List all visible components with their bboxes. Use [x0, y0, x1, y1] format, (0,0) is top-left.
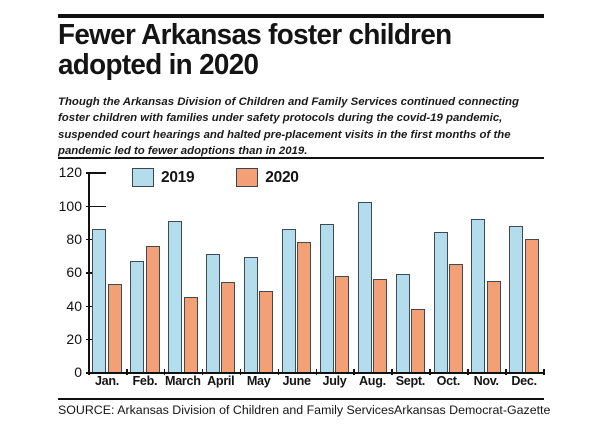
bar-group-july — [316, 172, 354, 372]
x-axis-label-oct: Oct. — [429, 374, 467, 388]
x-axis-label-march: March — [164, 374, 202, 388]
bar-group-dec — [505, 172, 543, 372]
y-tick-label-80: 80 — [66, 231, 82, 247]
bar-2019-sept — [396, 274, 410, 372]
y-tick-label-60: 60 — [66, 264, 82, 280]
bar-2020-jan — [108, 284, 122, 372]
bar-2019-may — [244, 257, 258, 372]
footer: SOURCE: Arkansas Division of Children an… — [58, 403, 548, 417]
subtitle-deck: Though the Arkansas Division of Children… — [58, 94, 546, 159]
x-axis-label-june: June — [278, 374, 316, 388]
bar-group-april — [202, 172, 240, 372]
x-axis-label-aug: Aug. — [353, 374, 391, 388]
bar-2020-april — [221, 282, 235, 372]
x-axis-label-july: July — [316, 374, 354, 388]
y-tick-label-100: 100 — [59, 198, 82, 214]
plot-area: 020406080100120 — [88, 172, 543, 374]
bar-2020-july — [335, 276, 349, 373]
bar-group-aug — [353, 172, 391, 372]
bar-2019-dec — [509, 226, 523, 373]
bar-2020-may — [259, 291, 273, 373]
bar-2019-jan — [92, 229, 106, 372]
bar-2020-feb — [146, 246, 160, 373]
y-tick-label-40: 40 — [66, 298, 82, 314]
x-axis-label-dec: Dec. — [505, 374, 543, 388]
bar-2020-aug — [373, 279, 387, 372]
bar-group-oct — [429, 172, 467, 372]
y-tick-label-120: 120 — [59, 164, 82, 180]
bar-group-march — [164, 172, 202, 372]
x-axis-label-nov: Nov. — [467, 374, 505, 388]
bar-groups — [88, 172, 543, 372]
bar-2020-dec — [525, 239, 539, 372]
bar-2019-nov — [471, 219, 485, 372]
infographic-panel: Fewer Arkansas foster children adopted i… — [0, 0, 600, 428]
bar-2020-sept — [411, 309, 425, 372]
top-divider-rule — [58, 14, 544, 18]
x-axis-label-jan: Jan. — [88, 374, 126, 388]
publication-credit: Arkansas Democrat-Gazette — [394, 403, 550, 417]
bar-2019-march — [168, 221, 182, 373]
bar-2019-april — [206, 254, 220, 372]
source-note: SOURCE: Arkansas Division of Children an… — [58, 403, 394, 417]
x-axis-label-may: May — [240, 374, 278, 388]
footer-divider-rule — [58, 398, 544, 400]
y-tick-label-0: 0 — [74, 364, 82, 380]
deck-divider-rule — [58, 157, 544, 159]
x-axis-labels: Jan.Feb.MarchAprilMayJuneJulyAug.Sept.Oc… — [88, 374, 543, 388]
bar-2019-aug — [358, 202, 372, 372]
x-axis-label-feb: Feb. — [126, 374, 164, 388]
x-axis-label-april: April — [202, 374, 240, 388]
bar-group-feb — [126, 172, 164, 372]
bar-group-sept — [391, 172, 429, 372]
bar-2020-june — [297, 242, 311, 372]
chart-container: 20192020 020406080100120 Jan.Feb.MarchAp… — [0, 162, 600, 394]
bar-2020-nov — [487, 281, 501, 373]
y-tick-label-20: 20 — [66, 331, 82, 347]
bar-2019-feb — [130, 261, 144, 373]
x-tick-mark-12 — [543, 369, 545, 375]
bar-2020-march — [184, 297, 198, 372]
bar-group-jan — [88, 172, 126, 372]
bar-2019-june — [282, 229, 296, 372]
bar-group-may — [240, 172, 278, 372]
bar-2020-oct — [449, 264, 463, 372]
x-axis-label-sept: Sept. — [391, 374, 429, 388]
page-title: Fewer Arkansas foster children adopted i… — [58, 20, 530, 80]
bar-2019-oct — [434, 232, 448, 372]
bar-2019-july — [320, 224, 334, 372]
bar-group-june — [278, 172, 316, 372]
bar-group-nov — [467, 172, 505, 372]
